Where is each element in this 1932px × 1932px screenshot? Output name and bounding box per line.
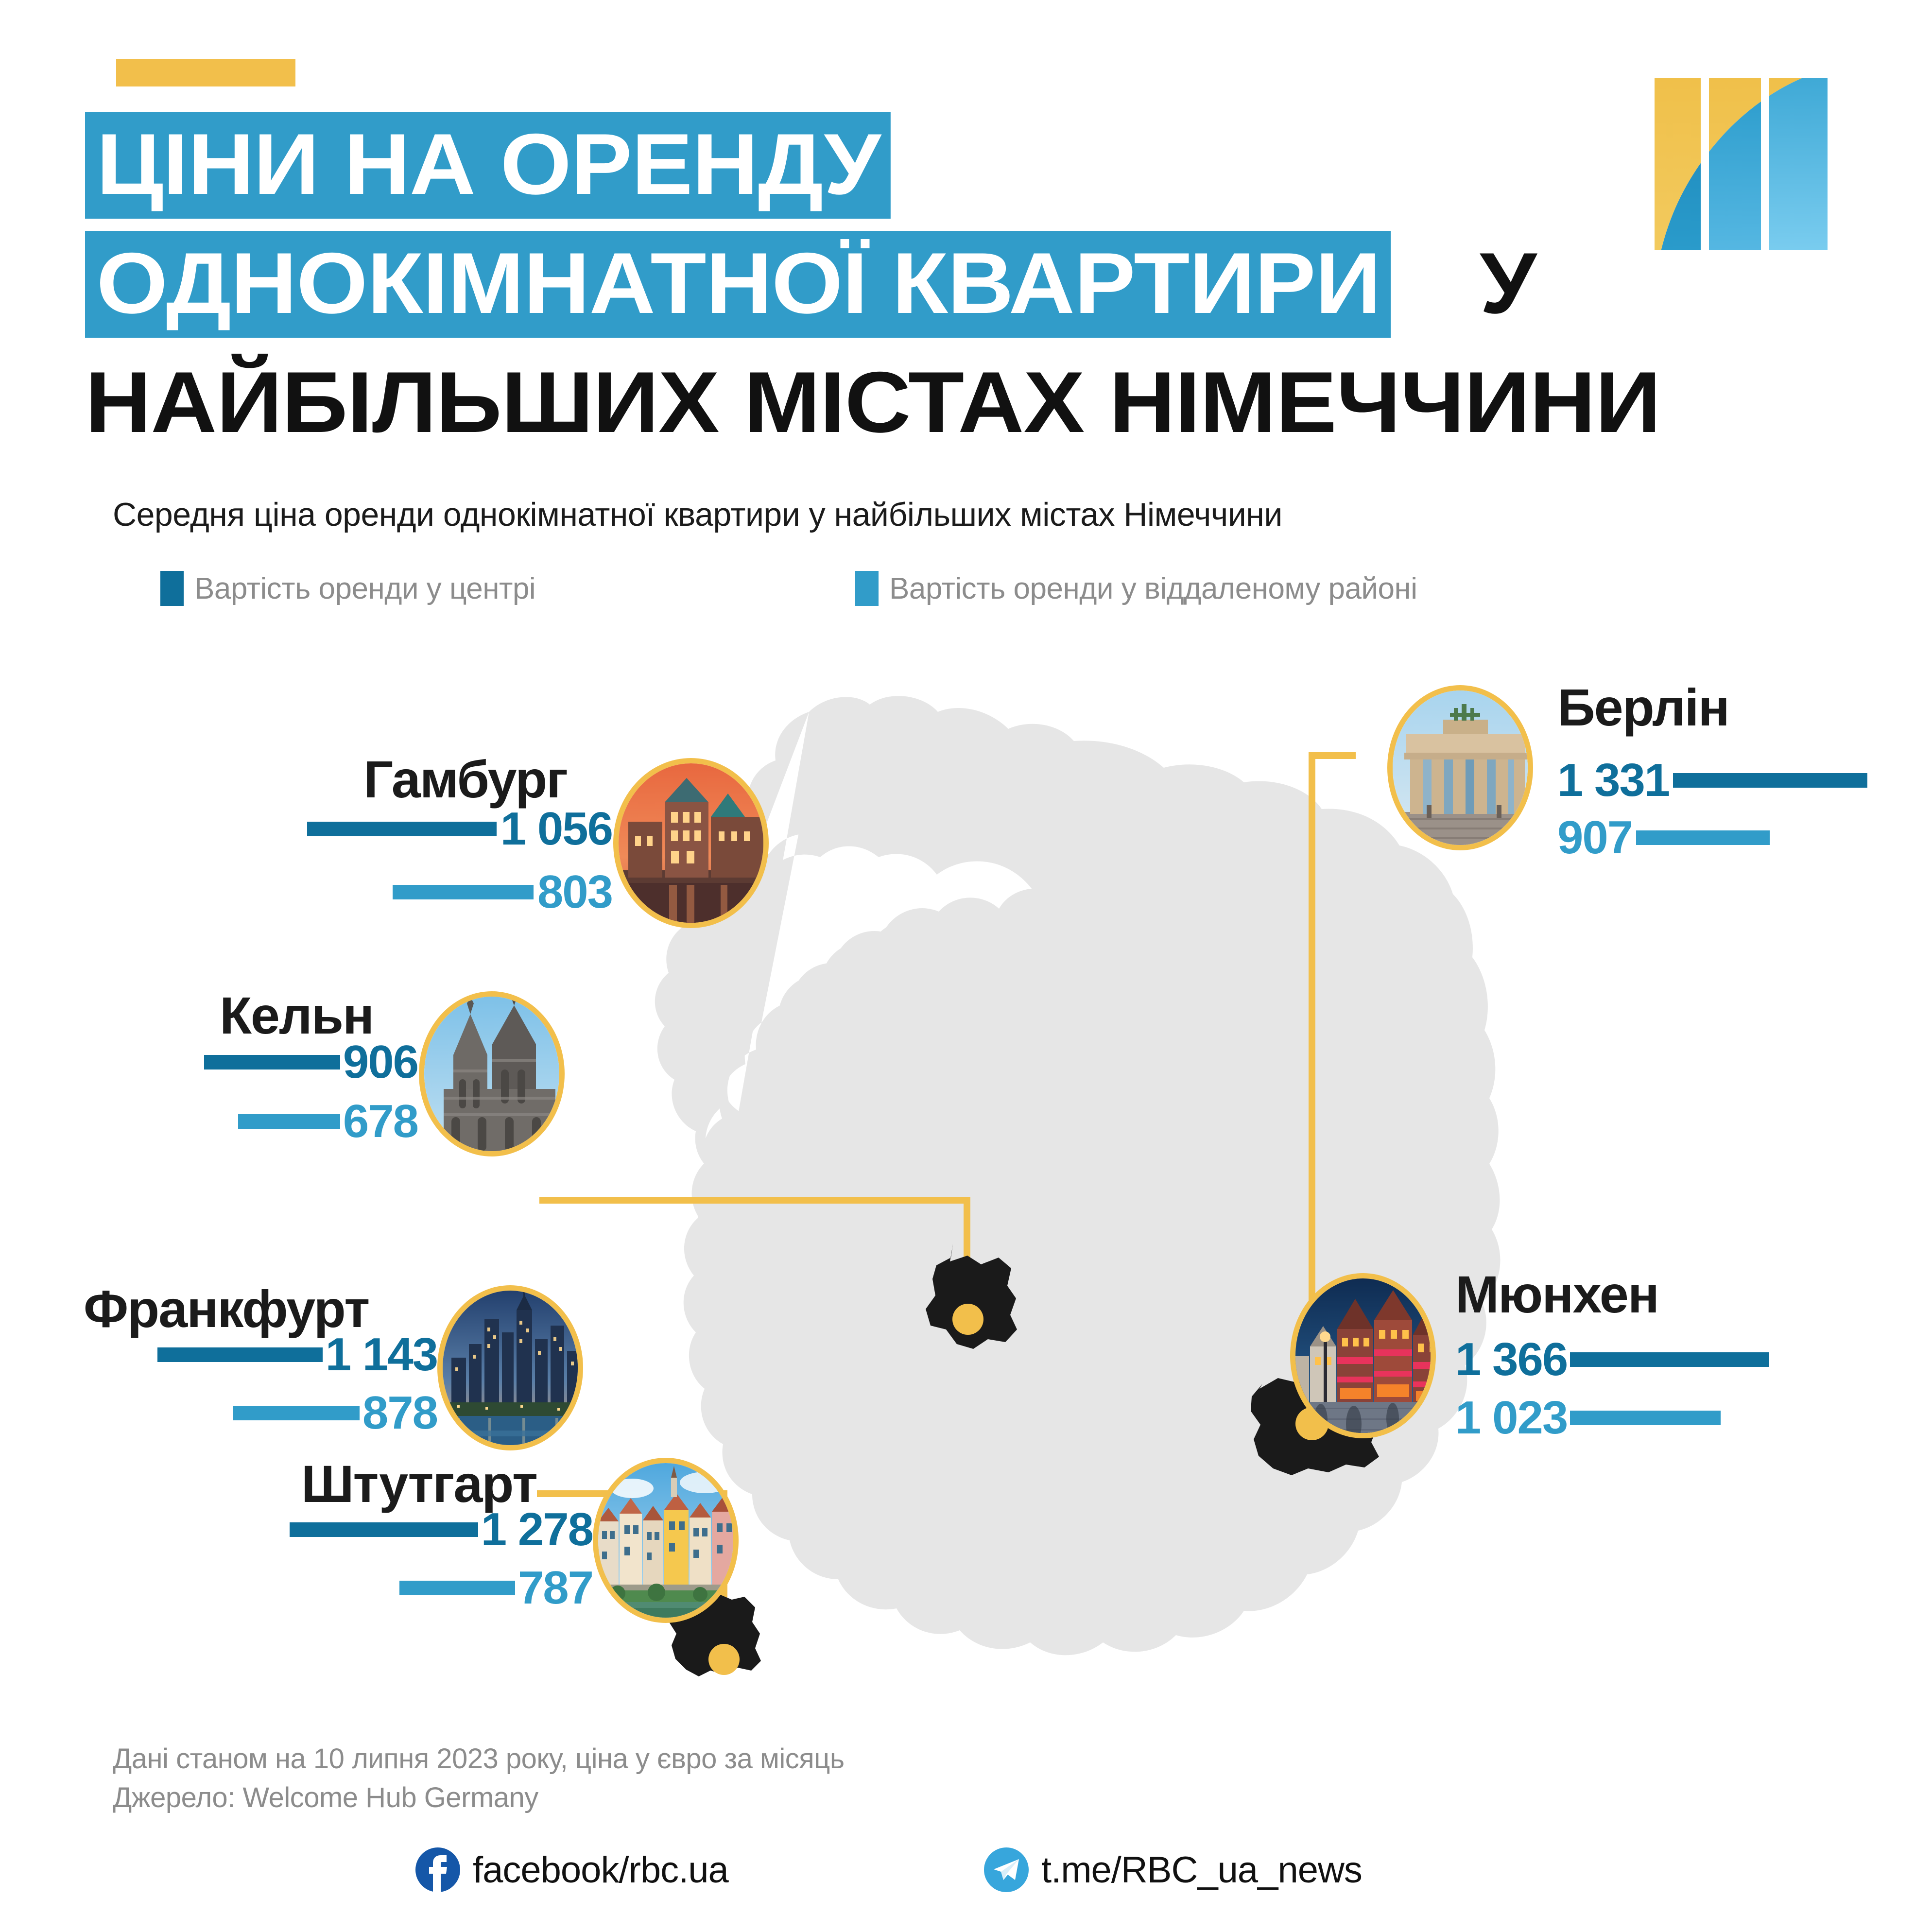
value-frankfurt-outer: 878 bbox=[362, 1390, 437, 1436]
city-name-hamburg: Гамбург bbox=[363, 753, 567, 806]
legend-item-center: Вартість оренди у центрі bbox=[160, 571, 535, 606]
legend: Вартість оренди у центрі Вартість оренди… bbox=[160, 571, 1812, 615]
bar-koln-center bbox=[204, 1055, 340, 1069]
legend-swatch-center bbox=[160, 571, 184, 606]
legend-item-outer: Вартість оренди у віддаленому районі bbox=[855, 571, 1417, 606]
value-stuttgart-outer: 787 bbox=[518, 1565, 593, 1611]
page-title: ЦІНИ НА ОРЕНДУ ОДНОКІМНАТНОЇ КВАРТИРИ У … bbox=[0, 112, 1932, 452]
bar-berlin-outer bbox=[1636, 830, 1770, 845]
bar-stuttgart-center bbox=[290, 1522, 478, 1537]
telegram-icon bbox=[984, 1847, 1029, 1892]
bar-hamburg-center bbox=[307, 822, 497, 836]
social-link-facebook[interactable]: facebook/rbc.ua bbox=[415, 1847, 728, 1892]
bar-row-frankfurt-outer: 878 bbox=[146, 1391, 437, 1435]
bar-row-hamburg-outer: 803 bbox=[292, 870, 612, 914]
bar-row-frankfurt-center: 1 143 bbox=[146, 1332, 437, 1377]
value-frankfurt-center: 1 143 bbox=[326, 1331, 437, 1378]
munich-marienplatz-photo bbox=[1290, 1273, 1436, 1438]
bar-row-munich-outer: 1 023 bbox=[1455, 1396, 1844, 1440]
footer-note-line-2: Джерело: Welcome Hub Germany bbox=[113, 1778, 845, 1817]
value-koln-outer: 678 bbox=[343, 1098, 418, 1145]
legend-label-outer: Вартість оренди у віддаленому районі bbox=[889, 571, 1417, 606]
bar-row-berlin-center: 1 331 bbox=[1557, 758, 1917, 803]
rbc-logo bbox=[1645, 68, 1837, 272]
bar-koln-outer bbox=[238, 1114, 340, 1129]
value-berlin-center: 1 331 bbox=[1557, 757, 1669, 804]
bar-row-stuttgart-center: 1 278 bbox=[272, 1507, 593, 1552]
value-hamburg-center: 1 056 bbox=[500, 806, 612, 852]
bar-row-koln-outer: 678 bbox=[185, 1099, 418, 1144]
bar-frankfurt-outer bbox=[233, 1406, 360, 1420]
bar-row-stuttgart-outer: 787 bbox=[272, 1566, 593, 1610]
bar-row-munich-center: 1 366 bbox=[1455, 1337, 1844, 1382]
value-berlin-outer: 907 bbox=[1557, 814, 1632, 861]
berlin-brandenburg-gate-photo bbox=[1387, 685, 1533, 850]
bar-munich-center bbox=[1570, 1352, 1769, 1367]
footer-note-line-1: Дані станом на 10 липня 2023 року, ціна … bbox=[113, 1740, 845, 1778]
value-koln-center: 906 bbox=[343, 1039, 418, 1086]
footer-note: Дані станом на 10 липня 2023 року, ціна … bbox=[113, 1740, 845, 1817]
social-label-telegram: t.me/RBC_ua_news bbox=[1041, 1849, 1362, 1891]
city-name-munich: Мюнхен bbox=[1455, 1268, 1658, 1321]
city-name-stuttgart: Штутгарт bbox=[301, 1458, 537, 1510]
city-name-berlin: Берлін bbox=[1557, 681, 1729, 734]
yellow-accent-bar bbox=[116, 59, 295, 86]
frankfurt-skyline-photo bbox=[437, 1285, 583, 1450]
city-name-koln: Кельн bbox=[220, 989, 373, 1042]
facebook-icon bbox=[415, 1847, 460, 1892]
social-links: facebook/rbc.ua t.me/RBC_ua_news bbox=[0, 1842, 1932, 1915]
title-line-2-suffix: У bbox=[1480, 243, 1536, 323]
bar-row-hamburg-center: 1 056 bbox=[292, 807, 612, 851]
value-stuttgart-center: 1 278 bbox=[481, 1506, 593, 1553]
legend-label-center: Вартість оренди у центрі bbox=[194, 571, 535, 606]
social-label-facebook: facebook/rbc.ua bbox=[473, 1849, 728, 1891]
bar-stuttgart-outer bbox=[399, 1581, 515, 1595]
city-name-frankfurt: Франкфурт bbox=[84, 1283, 369, 1335]
hamburg-speicherstadt-photo bbox=[613, 758, 769, 928]
subtitle: Середня ціна оренди однокімнатної кварти… bbox=[113, 496, 1813, 534]
bar-hamburg-outer bbox=[393, 885, 534, 899]
social-link-telegram[interactable]: t.me/RBC_ua_news bbox=[984, 1847, 1362, 1892]
bar-frankfurt-center bbox=[157, 1347, 323, 1362]
value-hamburg-outer: 803 bbox=[537, 869, 612, 915]
cologne-cathedral-photo bbox=[419, 991, 565, 1156]
bar-row-berlin-outer: 907 bbox=[1557, 815, 1917, 860]
title-line-1: ЦІНИ НА ОРЕНДУ bbox=[85, 112, 891, 219]
bar-row-koln-center: 906 bbox=[185, 1040, 418, 1085]
value-munich-center: 1 366 bbox=[1455, 1336, 1567, 1383]
stuttgart-tuebingen-photo bbox=[593, 1458, 739, 1623]
bar-berlin-center bbox=[1673, 773, 1867, 788]
title-line-3: НАЙБІЛЬШИХ МІСТАХ НІМЕЧЧИНИ bbox=[85, 350, 1660, 457]
marker-dot-hamburg bbox=[952, 1304, 983, 1335]
title-line-2: ОДНОКІМНАТНОЇ КВАРТИРИ bbox=[85, 231, 1391, 338]
value-munich-outer: 1 023 bbox=[1455, 1395, 1567, 1441]
legend-swatch-outer bbox=[855, 571, 879, 606]
bar-munich-outer bbox=[1570, 1411, 1721, 1425]
marker-dot-koln bbox=[708, 1644, 740, 1675]
